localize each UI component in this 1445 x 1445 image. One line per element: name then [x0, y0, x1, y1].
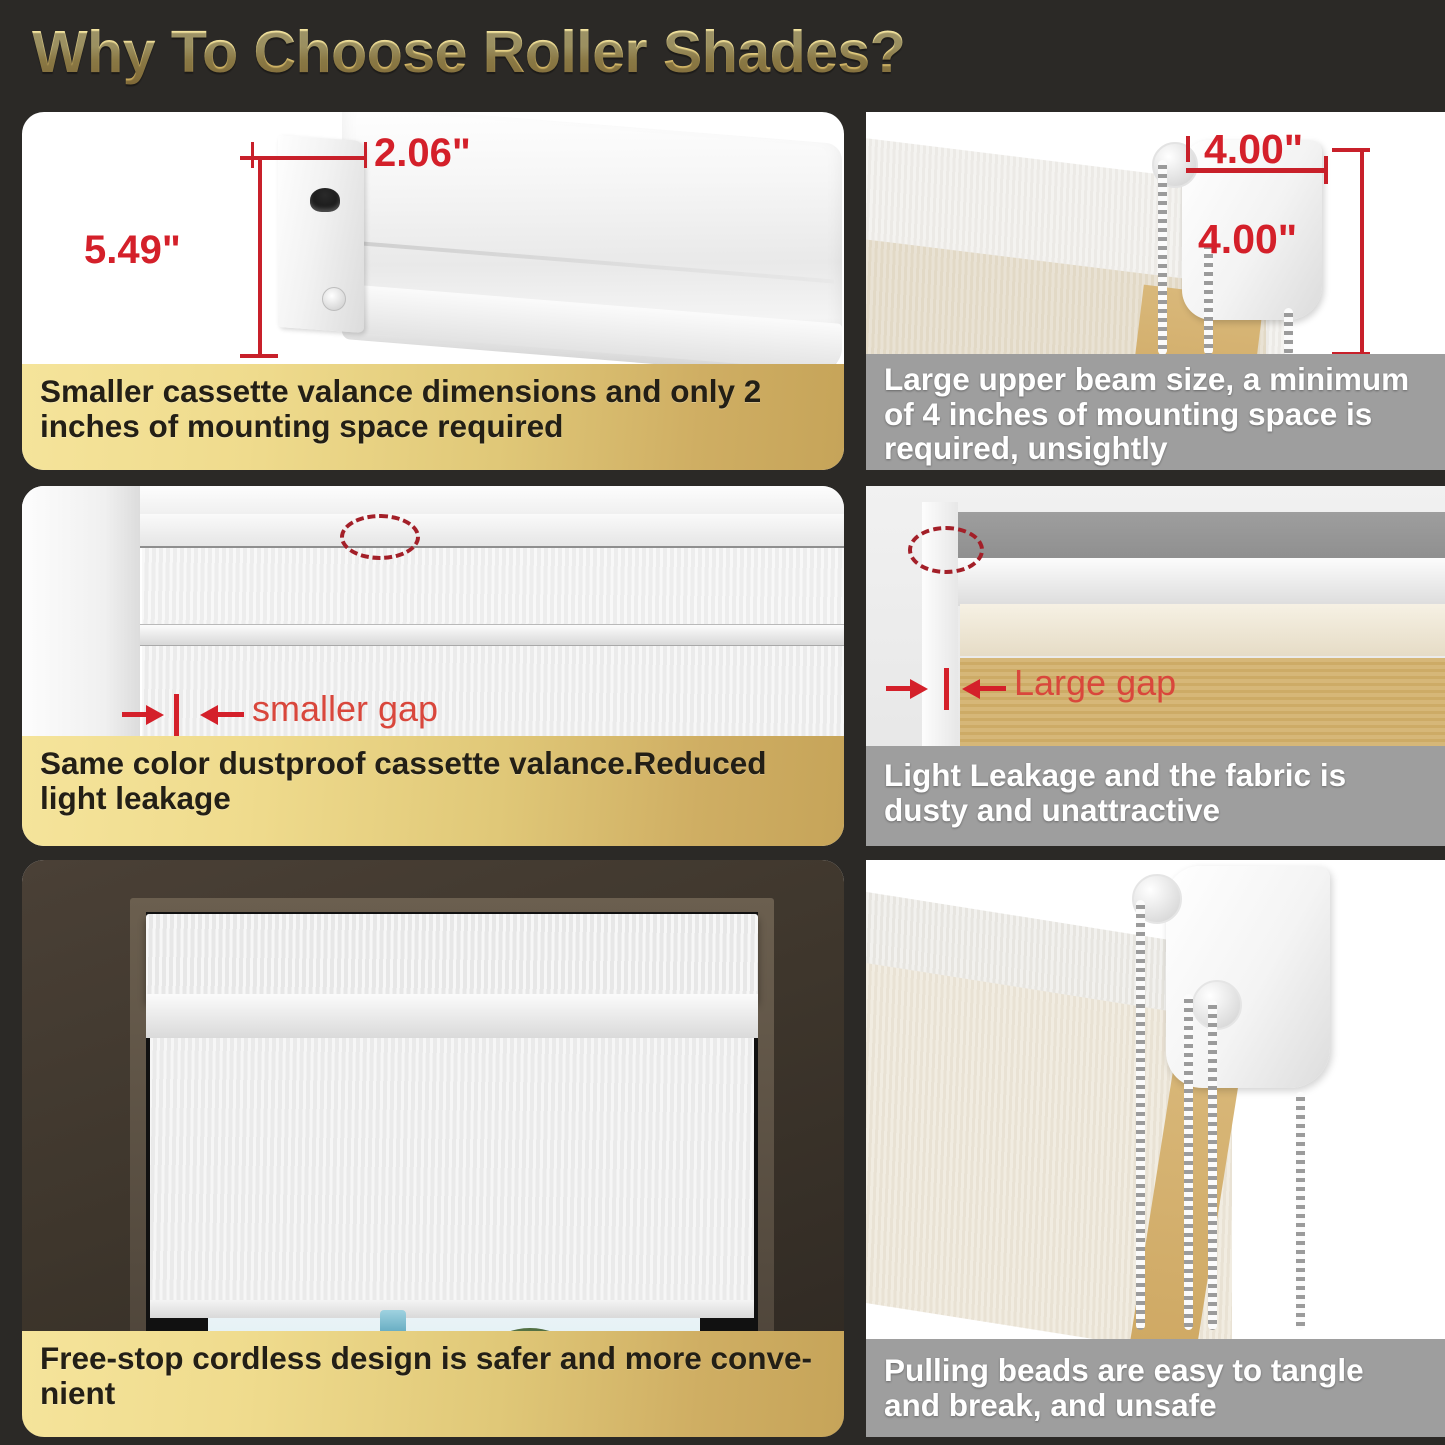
gap-arrow-left-head — [146, 705, 164, 725]
cassette-valance-lip — [146, 994, 758, 1038]
width-dim-tick-right — [364, 142, 367, 168]
valance-screw — [322, 287, 346, 311]
beam-width-tick-left — [1186, 136, 1190, 162]
bead-chain-3 — [1208, 1000, 1217, 1330]
roller-shade-fabric — [150, 1036, 754, 1308]
gap-arrow-right-tail — [218, 712, 244, 717]
gap-highlight-ellipse — [908, 526, 984, 574]
gap-arrow-right-head — [200, 705, 218, 725]
panel-cassette-valance-caption: Smaller cassette valance dimensions and … — [22, 364, 844, 470]
panel-dustproof-valance: smaller gap Same color dustproof cassett… — [22, 486, 844, 846]
gap-indicator-line — [174, 694, 179, 736]
roller-end-bottom — [1192, 980, 1242, 1030]
beam-width-label: 4.00" — [1204, 126, 1303, 173]
panel-pulling-beads: Pulling beads are easy to tangle and bre… — [866, 860, 1445, 1437]
gap-callout-label: smaller gap — [252, 688, 438, 730]
gap-highlight-ellipse — [340, 514, 420, 560]
valance-slot — [310, 188, 340, 212]
width-dimension-label: 2.06" — [374, 131, 471, 176]
bead-chain-4 — [1296, 1092, 1305, 1330]
shade-valance — [950, 558, 1445, 606]
gap-indicator-line — [944, 668, 949, 710]
panel-large-upper-beam: 4.00" 4.00" Large upper beam size, a min… — [866, 112, 1445, 470]
height-dim-tick-bot — [240, 354, 278, 358]
panel-cordless-design: Free-stop cordless design is safer and m… — [22, 860, 844, 1437]
height-dim-tick-top — [240, 156, 278, 160]
gap-arrow-left-tail — [122, 712, 146, 717]
page-title: Why To Choose Roller Shades? — [32, 18, 905, 86]
valance-end-cap — [278, 135, 364, 333]
shade-rail — [140, 624, 844, 646]
bead-chain-3 — [1284, 308, 1293, 356]
panel-cassette-valance: 2.06" 5.49" Smaller cassette valance dim… — [22, 112, 844, 470]
beam-height-label: 4.00" — [1198, 216, 1297, 263]
gap-callout-label: Large gap — [1014, 662, 1176, 704]
panel-cordless-design-caption: Free-stop cordless design is safer and m… — [22, 1331, 844, 1437]
shade-lower — [142, 646, 844, 746]
bead-chain-2 — [1184, 994, 1193, 1330]
panel-dustproof-valance-caption: Same color dustproof cassette valance.Re… — [22, 736, 844, 846]
beam-height-tick-top — [1332, 148, 1370, 152]
gap-arrow-right-tail — [980, 686, 1006, 691]
shade-hem-bar — [150, 1300, 754, 1318]
valance-header — [140, 514, 844, 548]
panel-light-leakage-caption: Light Leakage and the fabric is dusty an… — [866, 746, 1445, 846]
height-dimension-label: 5.49" — [84, 228, 181, 273]
wall-shadow-band — [950, 512, 1445, 560]
bead-chain-1 — [1158, 160, 1167, 355]
shade-beam — [960, 604, 1445, 656]
comparison-grid: 2.06" 5.49" Smaller cassette valance dim… — [0, 104, 1445, 1445]
beam-height-axis — [1360, 148, 1364, 356]
width-dim-tick-left — [251, 142, 254, 168]
gap-arrow-left-head — [910, 679, 928, 699]
height-dim-axis — [258, 156, 262, 358]
gap-arrow-right-head — [962, 679, 980, 699]
gap-arrow-left-tail — [886, 686, 910, 691]
shade-upper — [142, 548, 844, 624]
panel-light-leakage: Large gap Light Leakage and the fabric i… — [866, 486, 1445, 846]
cassette-valance — [146, 914, 758, 1002]
panel-large-upper-beam-caption: Large upper beam size, a minimum of 4 in… — [866, 354, 1445, 470]
page-header: Why To Choose Roller Shades? — [0, 0, 1445, 104]
panel-pulling-beads-caption: Pulling beads are easy to tangle and bre… — [866, 1339, 1445, 1437]
beam-width-tick-right — [1324, 156, 1328, 184]
bead-chain-1 — [1136, 900, 1145, 1330]
